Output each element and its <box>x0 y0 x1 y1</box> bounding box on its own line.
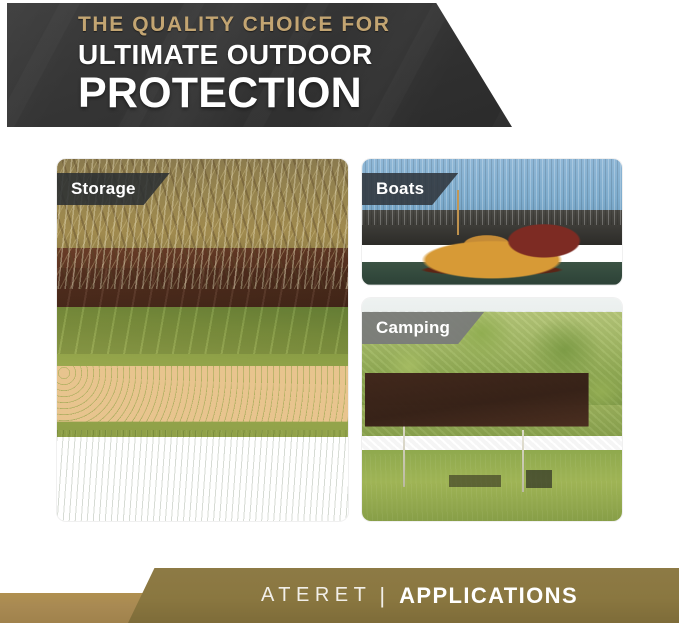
footer-section-title: APPLICATIONS <box>399 583 578 609</box>
brand-name: ATERET <box>261 584 371 607</box>
header-line-2: ULTIMATE OUTDOOR <box>78 41 391 69</box>
header-line-3: PROTECTION <box>78 72 391 115</box>
panel-camping[interactable]: Camping <box>362 298 622 521</box>
storage-photo <box>57 159 348 521</box>
ateret-applications-marketing-image: { "header": { "eyebrow": "THE QUALITY CH… <box>0 0 679 623</box>
footer-divider: | <box>379 583 385 609</box>
header-text-block: THE QUALITY CHOICE FOR ULTIMATE OUTDOOR … <box>78 14 391 115</box>
panel-storage[interactable]: Storage <box>57 159 348 521</box>
header-eyebrow: THE QUALITY CHOICE FOR <box>78 14 391 35</box>
footer-text-block: ATERET | APPLICATIONS <box>128 568 679 623</box>
panel-boats[interactable]: Boats <box>362 159 622 285</box>
